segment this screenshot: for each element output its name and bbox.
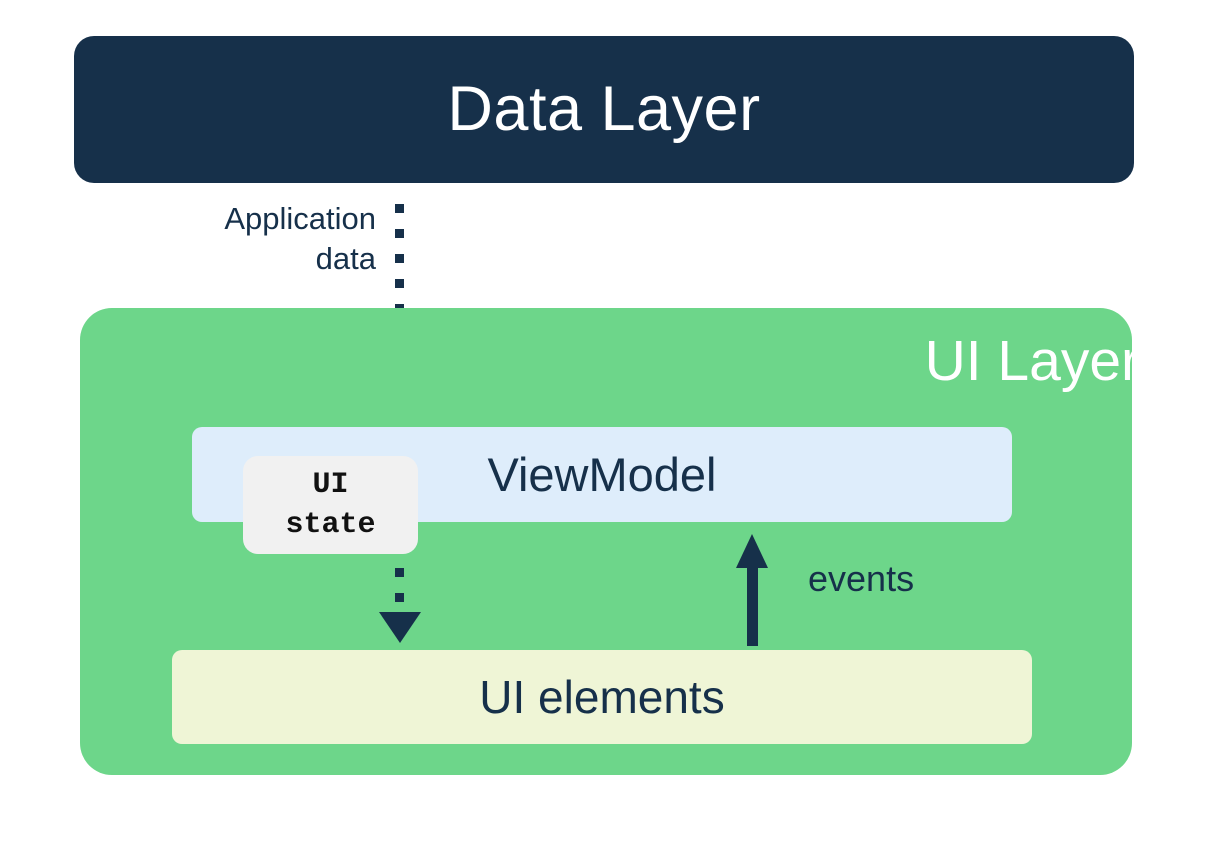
ui-state-badge-line1: UI	[312, 465, 348, 506]
application-data-label-line2: data	[148, 239, 376, 279]
ui-state-dotted-line	[395, 568, 404, 618]
data-layer-box: Data Layer	[74, 36, 1134, 183]
events-arrow-shaft	[747, 564, 758, 646]
application-data-label: Application data	[148, 199, 376, 278]
dotted-line-dot	[395, 204, 404, 213]
viewmodel-label: ViewModel	[487, 451, 716, 498]
ui-elements-box: UI elements	[172, 650, 1032, 744]
application-data-label-line1: Application	[148, 199, 376, 239]
events-label: events	[808, 561, 914, 597]
dotted-line-dot	[395, 229, 404, 238]
ui-state-badge-line2: state	[285, 505, 375, 546]
ui-state-arrowhead-icon	[379, 612, 421, 643]
ui-elements-label: UI elements	[479, 674, 724, 720]
dotted-line-dot	[395, 254, 404, 263]
dotted-line-dot	[395, 279, 404, 288]
architecture-diagram: Data Layer Application data UI Layer Vie…	[0, 0, 1218, 852]
data-layer-label: Data Layer	[447, 78, 760, 141]
events-arrowhead-icon	[736, 534, 768, 568]
ui-state-badge: UI state	[243, 456, 418, 554]
events-arrow-icon	[736, 534, 769, 646]
dotted-line-dot	[395, 568, 404, 577]
ui-layer-label: UI Layer	[925, 333, 1140, 390]
dotted-line-dot	[395, 593, 404, 602]
